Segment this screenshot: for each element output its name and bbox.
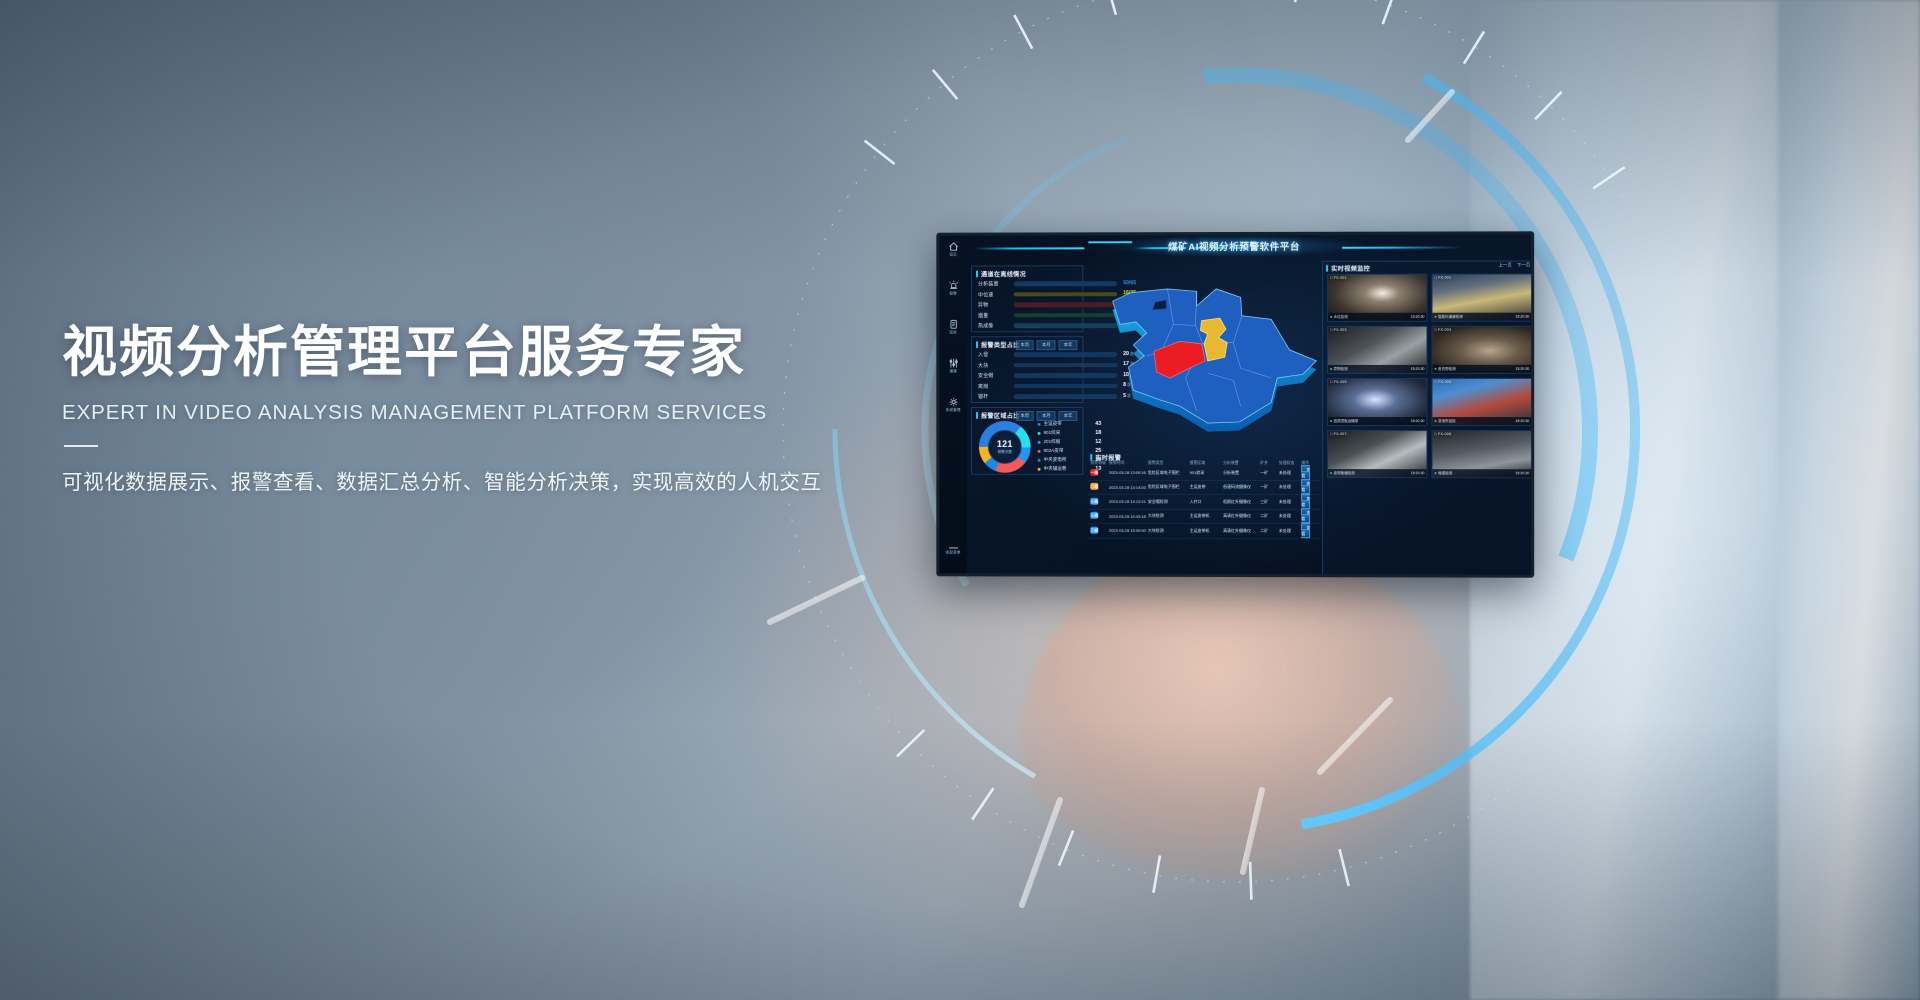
- online-dot: [1330, 420, 1332, 422]
- panel-alarm-area: 报警区域占比 本周本月本年 121 报警次数 主运皮带43901综采18201综…: [971, 407, 1083, 475]
- sidebar-item-inspection[interactable]: 巡检: [939, 319, 967, 335]
- cell-type: 大块检测: [1148, 513, 1190, 519]
- hero-divider: [64, 445, 98, 447]
- video-name: 智能化通道检测: [1435, 314, 1463, 319]
- cell-device: 分析装置: [1223, 470, 1260, 476]
- alarm-type-label: 锚杆: [978, 393, 988, 400]
- channel-row-label: 热成像: [978, 323, 993, 330]
- status-badge: 三级: [1090, 497, 1098, 504]
- video-code: □ FX-001: [1330, 276, 1347, 280]
- cell-time: 2023-03-28 14:13:21: [1109, 499, 1148, 504]
- video-cell[interactable]: □ FX-001水位检测15:20:30: [1327, 274, 1427, 322]
- tab-本周[interactable]: 本周: [1015, 340, 1034, 350]
- video-cell[interactable]: □ FX-003异物检测15:20:30: [1327, 326, 1427, 374]
- view-button[interactable]: 查看: [1301, 479, 1310, 494]
- column-header: 分析装置: [1223, 460, 1260, 466]
- video-time: 15:20:30: [1411, 471, 1425, 475]
- legend-item: 中央变电所10: [1038, 457, 1067, 463]
- cell-time: 2023-03-28 14:43:18: [1109, 514, 1148, 519]
- panel-accent-bar: [1090, 454, 1092, 461]
- cell-mine: 二矿: [1260, 528, 1279, 534]
- legend-color-dot: [1038, 440, 1041, 443]
- cell-area: 入井口: [1190, 499, 1223, 505]
- dashboard-topbar: 煤矿AI视频分析预警软件平台: [939, 234, 1531, 261]
- monitor-frame: 煤矿AI视频分析预警软件平台 首页 报警 巡检: [936, 231, 1534, 577]
- view-button[interactable]: 查看: [1301, 508, 1310, 523]
- channel-row-label: 异物: [978, 302, 988, 309]
- legend-color-dot: [1038, 422, 1041, 425]
- table-row[interactable]: 三级2023-03-28 14:13:21安全帽检测入井口低照红外摄像仪三矿未处…: [1088, 495, 1320, 510]
- panel-channel-status: 通道在离线情况 分析装置50/65中位速16/25异物6/9烟量4/9热成像4/…: [971, 265, 1083, 332]
- app-title: 煤矿AI视频分析预警软件平台: [939, 238, 1531, 253]
- online-dot: [1330, 368, 1332, 370]
- alarm-table-body: 一级2023-03-28 13:00:16危险区域电子围栏901综采分析装置一矿…: [1088, 466, 1320, 539]
- cell-mine: 二矿: [1260, 513, 1279, 519]
- sidebar-label-inspection: 巡检: [939, 330, 967, 335]
- alarm-type-tabs: 本周本月本年: [1015, 340, 1077, 350]
- video-code: □ FX-008: [1435, 432, 1452, 436]
- channel-row-label: 烟量: [978, 312, 988, 319]
- table-row[interactable]: 一级2023-03-28 13:00:16危险区域电子围栏901综采分析装置一矿…: [1088, 466, 1320, 481]
- video-name: 巡视顶板运输带: [1330, 419, 1358, 424]
- legend-label: 201综掘: [1044, 439, 1061, 445]
- donut-total-label: 报警次数: [998, 450, 1012, 455]
- legend-label: 901综采: [1044, 430, 1061, 436]
- panel-title-alarm-area: 报警区域占比: [981, 411, 1020, 420]
- online-dot: [1435, 472, 1437, 474]
- status-badge: 二级: [1090, 483, 1098, 490]
- video-time: 15:20:30: [1411, 367, 1425, 371]
- panel-alarm-type: 报警类型占比 本周本月本年 入侵20次大块17次安全帽10次离岗8次锚杆5次: [971, 336, 1083, 403]
- video-time: 15:20:30: [1515, 367, 1529, 371]
- cell-area: 主运皮带: [1190, 484, 1223, 490]
- video-pager: 上一页 下一页: [1499, 262, 1531, 268]
- legend-label: 中央变电所: [1044, 457, 1067, 463]
- online-dot: [1435, 368, 1437, 370]
- hero-subtitle: EXPERT IN VIDEO ANALYSIS MANAGEMENT PLAT…: [62, 401, 822, 425]
- sidebar-item-home[interactable]: 首页: [939, 242, 967, 258]
- donut-total-value: 121: [997, 439, 1013, 449]
- cell-area: 主运皮带机: [1190, 528, 1223, 534]
- region-map[interactable]: [1088, 261, 1320, 451]
- panel-title-alarm-type: 报警类型占比: [981, 340, 1020, 349]
- video-monitor-panel: 实时视频监控 上一页 下一页 □ FX-001水位检测15:20:30□ FX-…: [1322, 260, 1531, 574]
- video-cell[interactable]: □ FX-004皮衣带检测15:20:30: [1432, 326, 1532, 374]
- panel-title-video: 实时视频监控: [1331, 264, 1370, 273]
- cell-time: 2023-03-28 15:00:00: [1109, 528, 1148, 533]
- video-code: □ FX-003: [1330, 328, 1347, 332]
- video-cell[interactable]: □ FX-007皮带跑偏检测15:20:30: [1327, 430, 1427, 478]
- view-button[interactable]: 查看: [1301, 523, 1310, 538]
- table-row[interactable]: 二级2023-03-28 13:14:03危险区域电子围栏主运皮带低速码流摄像仪…: [1088, 480, 1320, 495]
- cell-mine: 三矿: [1260, 499, 1279, 505]
- channel-icon: [948, 358, 959, 368]
- video-grid: □ FX-001水位检测15:20:30□ FX-002智能化通道检测15:20…: [1327, 273, 1531, 478]
- video-cell[interactable]: □ FX-005巡视顶板运输带15:20:30: [1327, 378, 1427, 426]
- hero-block: 视频分析管理平台服务专家 EXPERT IN VIDEO ANALYSIS MA…: [62, 320, 822, 495]
- video-caption: 异物检测15:20:30: [1328, 365, 1426, 373]
- cell-time: 2023-03-28 13:14:03: [1109, 485, 1148, 490]
- video-cell[interactable]: □ FX-008堆煤检测15:20:30: [1432, 430, 1532, 478]
- video-name: 异物检测: [1330, 366, 1348, 371]
- panel-accent-bar: [976, 341, 978, 348]
- video-cell[interactable]: □ FX-006变电所巡检15:20:30: [1432, 378, 1532, 426]
- sidebar-collapse-button[interactable]: 收起菜单: [939, 547, 967, 555]
- tab-本年[interactable]: 本年: [1059, 410, 1078, 420]
- video-time: 15:20:30: [1411, 315, 1425, 319]
- online-dot: [1330, 316, 1332, 318]
- sidebar-label-channel: 通道: [939, 369, 967, 374]
- realtime-alarm-panel: 实时报警 报警等级报警时间报警类型报警区域分析装置矿井处理状态操作 一级2023…: [1088, 451, 1320, 575]
- legend-color-dot: [1038, 458, 1041, 461]
- legend-item: 902A皮带25: [1038, 448, 1064, 454]
- online-dot: [1435, 316, 1437, 318]
- video-name: 皮衣带检测: [1435, 366, 1456, 371]
- legend-label: 主运皮带: [1044, 421, 1062, 427]
- video-caption: 巡视顶板运输带15:20:30: [1328, 417, 1426, 425]
- legend-color-dot: [1038, 431, 1041, 434]
- sidebar-label-system: 系统管理: [939, 408, 967, 413]
- status-badge: 三级: [1090, 526, 1098, 533]
- cell-area: 901综采: [1190, 470, 1223, 476]
- sidebar-label-home: 首页: [939, 253, 967, 258]
- video-name: 皮带跑偏检测: [1330, 471, 1355, 476]
- legend-label: 902A皮带: [1044, 448, 1064, 454]
- dashboard-screen: 煤矿AI视频分析预警软件平台 首页 报警 巡检: [939, 234, 1531, 574]
- cell-device: 高清红外摄像仪: [1223, 528, 1260, 534]
- alarm-type-label: 离岗: [978, 383, 988, 390]
- view-button[interactable]: 查看: [1301, 494, 1310, 509]
- video-caption: 水位检测15:20:30: [1328, 313, 1426, 321]
- table-row[interactable]: 三级2023-03-28 14:43:18大块检测主运皮带机高清红外摄像仪二矿未…: [1088, 509, 1320, 524]
- sidebar-label-alarm: 报警: [939, 291, 967, 296]
- cell-mine: 一矿: [1260, 484, 1279, 490]
- alarm-type-label: 安全帽: [978, 372, 993, 379]
- cell-status: 未处理: [1279, 528, 1301, 534]
- column-header: 矿井: [1260, 460, 1279, 466]
- legend-item: 中央辅运巷13: [1038, 466, 1067, 472]
- cell-status: 未处理: [1279, 513, 1301, 519]
- cell-type: 危险区域电子围栏: [1148, 470, 1190, 476]
- panel-accent-bar: [976, 270, 978, 277]
- cell-status: 未处理: [1279, 470, 1301, 476]
- map-svg: [1088, 261, 1320, 451]
- tab-本月[interactable]: 本月: [1037, 340, 1056, 350]
- sidebar: 首页 报警 巡检 通道: [939, 236, 967, 574]
- video-caption: 智能化通道检测15:20:30: [1433, 313, 1532, 321]
- column-header: 报警类型: [1148, 460, 1190, 466]
- legend-item: 主运皮带43: [1038, 421, 1062, 427]
- legend-item: 201综掘12: [1038, 439, 1061, 445]
- sidebar-item-channel[interactable]: 通道: [939, 358, 967, 374]
- donut-center: 121 报警次数: [988, 430, 1022, 464]
- cell-status: 未处理: [1279, 484, 1301, 490]
- sidebar-item-alarm[interactable]: 报警: [939, 280, 967, 296]
- video-code: □ FX-005: [1330, 380, 1347, 384]
- cell-type: 大块检测: [1148, 528, 1190, 534]
- column-header: 报警区域: [1190, 460, 1223, 466]
- video-next-page[interactable]: 下一页: [1517, 262, 1530, 268]
- table-row[interactable]: 三级2023-03-28 15:00:00大块检测主运皮带机高清红外摄像仪二矿未…: [1088, 524, 1320, 539]
- video-code: □ FX-004: [1435, 328, 1452, 332]
- video-code: □ FX-007: [1330, 432, 1347, 436]
- panel-title-realtime-alarm: 实时报警: [1095, 453, 1121, 462]
- video-code: □ FX-002: [1435, 276, 1452, 280]
- status-badge: 一级: [1090, 468, 1098, 475]
- video-caption: 皮带跑偏检测15:20:30: [1328, 469, 1426, 477]
- tab-本月[interactable]: 本月: [1037, 410, 1056, 420]
- cell-status: 未处理: [1279, 499, 1301, 505]
- alarm-type-label: 入侵: [978, 351, 988, 358]
- video-code: □ FX-006: [1435, 380, 1452, 384]
- video-caption: 变电所巡检15:20:30: [1433, 417, 1532, 425]
- alarm-type-label: 大块: [978, 362, 988, 369]
- tab-本周[interactable]: 本周: [1015, 410, 1034, 420]
- video-caption: 皮衣带检测15:20:30: [1433, 365, 1532, 373]
- cell-device: 低照红外摄像仪: [1223, 499, 1260, 505]
- column-header: 处理状态: [1279, 460, 1301, 466]
- video-name: 堆煤检测: [1435, 471, 1453, 476]
- tab-本年[interactable]: 本年: [1059, 340, 1078, 350]
- panel-accent-bar: [1326, 265, 1328, 272]
- page-title: 视频分析管理平台服务专家: [62, 320, 822, 385]
- online-dot: [1435, 420, 1437, 422]
- video-name: 变电所巡检: [1435, 419, 1456, 424]
- cell-device: 高清红外摄像仪: [1223, 513, 1260, 519]
- cell-device: 低速码流摄像仪: [1223, 484, 1260, 490]
- view-button[interactable]: 查看: [1301, 465, 1310, 480]
- legend-label: 中央辅运巷: [1044, 466, 1067, 472]
- status-badge: 三级: [1090, 512, 1098, 519]
- cell-type: 危险区域电子围栏: [1148, 484, 1190, 490]
- alarm-icon: [948, 280, 959, 290]
- video-time: 15:20:30: [1515, 419, 1529, 423]
- cell-type: 安全帽检测: [1148, 499, 1190, 505]
- legend-color-dot: [1038, 449, 1041, 452]
- sidebar-item-system[interactable]: 系统管理: [939, 397, 967, 413]
- alarm-area-donut-chart: 121 报警次数: [979, 421, 1031, 473]
- panel-title-channel: 通道在离线情况: [981, 269, 1026, 278]
- video-time: 15:20:30: [1515, 315, 1529, 319]
- gear-icon: [948, 397, 959, 407]
- legend-item: 901综采18: [1038, 430, 1061, 436]
- video-cell[interactable]: □ FX-002智能化通道检测15:20:30: [1432, 273, 1532, 321]
- alarm-area-tabs: 本周本月本年: [1015, 410, 1077, 420]
- video-time: 15:20:30: [1515, 471, 1529, 475]
- cell-mine: 一矿: [1260, 470, 1279, 476]
- sidebar-collapse-label: 收起菜单: [939, 551, 967, 556]
- online-dot: [1330, 472, 1332, 474]
- cell-area: 主运皮带机: [1190, 513, 1223, 519]
- video-time: 15:20:30: [1411, 419, 1425, 423]
- hero-description: 可视化数据展示、报警查看、数据汇总分析、智能分析决策，实现高效的人机交互: [62, 465, 822, 495]
- channel-row-label: 中位速: [978, 291, 993, 298]
- video-prev-page[interactable]: 上一页: [1499, 262, 1512, 268]
- legend-color-dot: [1038, 467, 1041, 470]
- alarm-table-header: 报警等级报警时间报警类型报警区域分析装置矿井处理状态操作: [1088, 460, 1320, 466]
- inspection-icon: [948, 319, 959, 329]
- channel-row-label: 分析装置: [978, 280, 999, 287]
- video-caption: 堆煤检测15:20:30: [1433, 469, 1532, 477]
- cell-time: 2023-03-28 13:00:16: [1109, 470, 1148, 475]
- panel-accent-bar: [976, 412, 978, 419]
- home-icon: [948, 242, 959, 252]
- video-name: 水位检测: [1330, 314, 1348, 319]
